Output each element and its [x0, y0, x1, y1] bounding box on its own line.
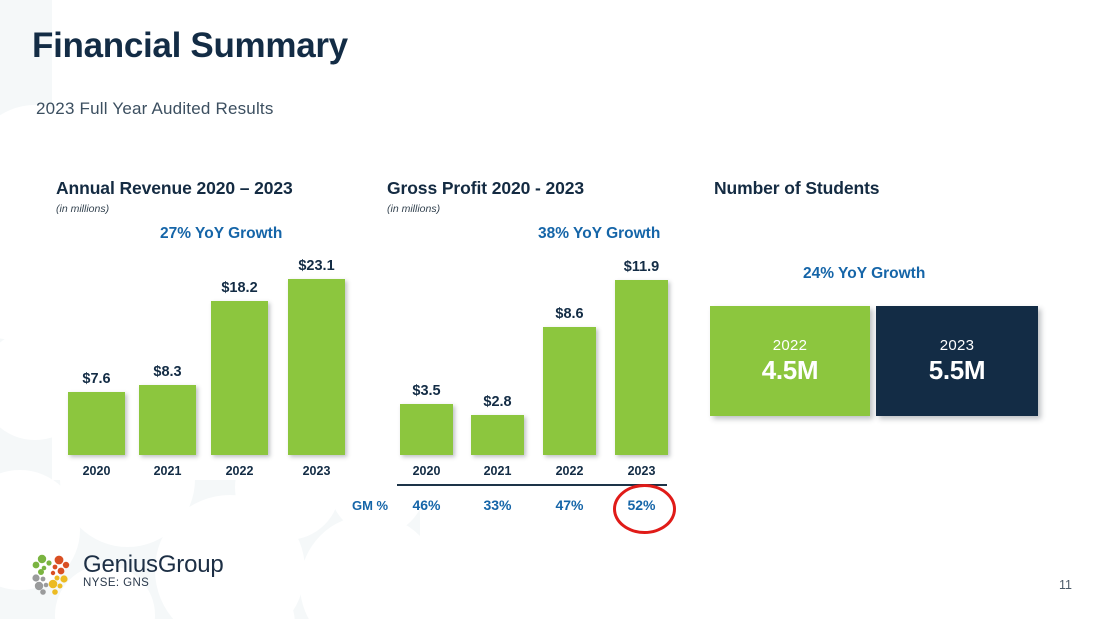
bar-category-label: 2021 — [139, 464, 196, 478]
bar-value-label: $8.3 — [139, 364, 196, 380]
page-number: 11 — [1059, 578, 1072, 592]
bar-value-label: $7.6 — [68, 371, 125, 387]
bar-category-label: 2020 — [68, 464, 125, 478]
gm-row-label: GM % — [352, 498, 388, 513]
gross-profit-chart-unit-note: (in millions) — [387, 203, 440, 215]
revenue-chart-unit-note: (in millions) — [56, 203, 109, 215]
bar-category-label: 2023 — [615, 464, 668, 478]
students-yoy-growth-annotation: 24% YoY Growth — [803, 265, 925, 283]
revenue-chart-title: Annual Revenue 2020 – 2023 — [56, 178, 293, 199]
slide-canvas: Financial Summary 2023 Full Year Audited… — [0, 0, 1100, 619]
revenue-yoy-growth-annotation: 27% YoY Growth — [160, 225, 282, 243]
students-year-label: 2023 — [940, 337, 975, 354]
bar-revenue-2020 — [68, 392, 125, 455]
bar-category-label: 2023 — [288, 464, 345, 478]
brand-logo: GeniusGroup NYSE: GNS — [28, 552, 224, 603]
bar-category-label: 2022 — [543, 464, 596, 478]
bar-gross-profit-2020 — [400, 404, 453, 455]
bar-revenue-2022 — [211, 301, 268, 455]
students-year-label: 2022 — [773, 337, 808, 354]
bar-revenue-2023 — [288, 279, 345, 455]
bar-revenue-2021 — [139, 385, 196, 455]
students-box-2022: 2022 4.5M — [710, 306, 870, 416]
page-title: Financial Summary — [32, 26, 348, 66]
bar-value-label: $18.2 — [207, 280, 272, 296]
bar-value-label: $2.8 — [471, 394, 524, 410]
bar-value-label: $8.6 — [539, 306, 600, 322]
students-box-2023: 2023 5.5M — [876, 306, 1038, 416]
logo-name: GeniusGroup — [83, 552, 224, 578]
bar-value-label: $23.1 — [284, 258, 349, 274]
bar-value-label: $11.9 — [610, 259, 673, 275]
gm-highlight-circle — [613, 484, 676, 534]
gm-value: 33% — [471, 497, 524, 513]
gm-row-divider — [397, 484, 667, 486]
bar-category-label: 2020 — [400, 464, 453, 478]
bar-category-label: 2022 — [211, 464, 268, 478]
bar-gross-profit-2021 — [471, 415, 524, 455]
bar-gross-profit-2022 — [543, 327, 596, 455]
page-subtitle: 2023 Full Year Audited Results — [36, 99, 274, 119]
students-chart-title: Number of Students — [714, 178, 879, 199]
bar-category-label: 2021 — [471, 464, 524, 478]
gm-value: 47% — [543, 497, 596, 513]
bar-gross-profit-2023 — [615, 280, 668, 455]
gross-profit-yoy-growth-annotation: 38% YoY Growth — [538, 225, 660, 243]
gross-profit-chart-title: Gross Profit 2020 - 2023 — [387, 178, 584, 199]
bar-value-label: $3.5 — [400, 383, 453, 399]
students-value-label: 4.5M — [762, 355, 819, 386]
genius-group-dot-cluster-icon — [28, 552, 74, 603]
logo-ticker: NYSE: GNS — [83, 577, 224, 589]
gm-value: 46% — [400, 497, 453, 513]
students-value-label: 5.5M — [929, 355, 986, 386]
